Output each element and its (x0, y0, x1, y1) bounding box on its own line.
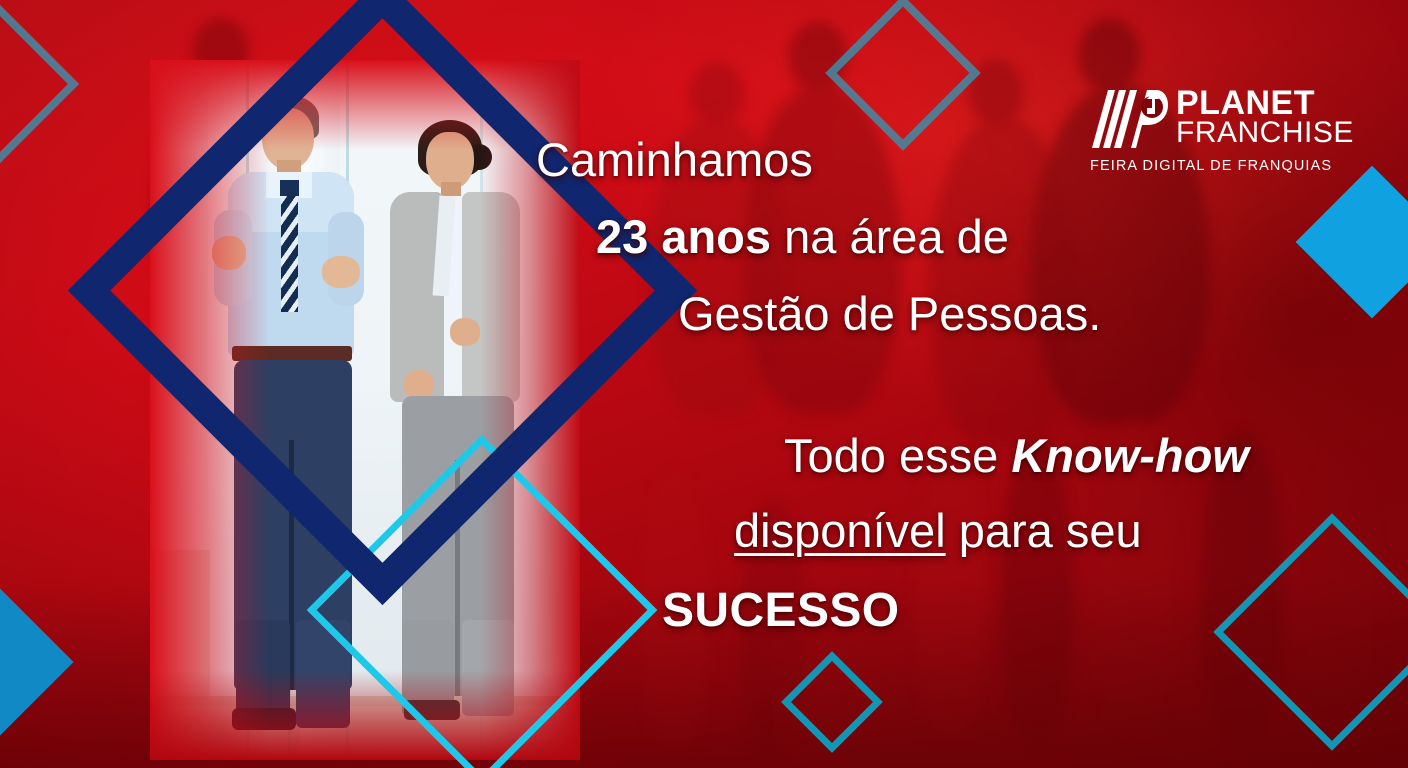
headline2-line-2-rest: para seu (946, 504, 1142, 557)
headline-years-emphasis: 23 anos (596, 210, 771, 263)
headline-block-2: Todo esse Know-how disponível para seu S… (736, 432, 1249, 636)
logo-name-planet: PLANET (1176, 88, 1354, 119)
promotional-banner: Caminhamos 23 anos na área de Gestão de … (0, 0, 1408, 768)
headline2-disponivel-underlined: disponível (734, 504, 946, 557)
headline-line-3: Gestão de Pessoas. (678, 290, 1101, 339)
planet-franchise-logo[interactable]: PLANET FRANCHISE FEIRA DIGITAL DE FRANQU… (1090, 88, 1330, 174)
headline-line-2-rest: na área de (771, 210, 1009, 263)
logo-name-franchise: FRANCHISE (1176, 119, 1354, 147)
headline2-line-2: disponível para seu (734, 507, 1249, 556)
headline2-line-1-prefix: Todo esse (784, 429, 1011, 482)
headline-block-1: Caminhamos 23 anos na área de Gestão de … (536, 136, 1101, 339)
logo-tagline: FEIRA DIGITAL DE FRANQUIAS (1090, 158, 1330, 174)
headline-line-2: 23 anos na área de (596, 213, 1101, 262)
headline2-sucesso: SUCESSO (662, 586, 1249, 636)
headline2-line-1: Todo esse Know-how (784, 432, 1249, 481)
headline2-knowhow-emphasis: Know-how (1011, 429, 1249, 482)
headline-line-1: Caminhamos (536, 136, 1101, 185)
planet-arrow-p-icon (1090, 88, 1168, 155)
